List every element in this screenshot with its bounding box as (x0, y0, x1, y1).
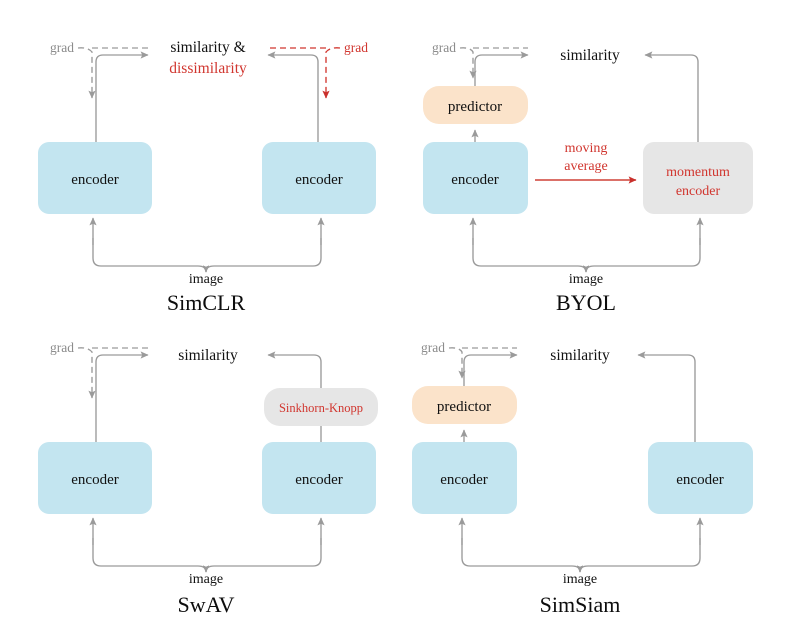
panel-simclr: encoder encoder grad similarity & dissim… (38, 39, 376, 315)
simsiam-image-brace-right (580, 538, 700, 572)
swav-sinkhorn-knopp-label: Sinkhorn-Knopp (279, 401, 363, 415)
byol-moving-average-label-line2: average (564, 159, 608, 174)
swav-sinkhorn-to-similarity-arrow (268, 355, 321, 388)
simclr-right-forward-arrow (268, 55, 318, 142)
byol-grad-label: grad (432, 40, 456, 55)
simclr-right-encoder-label: encoder (295, 172, 342, 188)
simclr-image-brace-right (206, 238, 321, 272)
swav-left-forward-arrow (96, 355, 148, 442)
simsiam-image-label: image (563, 572, 597, 587)
byol-predictor-label: predictor (448, 99, 502, 115)
swav-left-encoder-label: encoder (71, 472, 118, 488)
simclr-right-grad-label: grad (344, 40, 368, 55)
simclr-left-grad-arrow-down (78, 48, 92, 98)
simsiam-right-encoder-label: encoder (676, 472, 723, 488)
byol-momentum-encoder-label-line2: encoder (676, 184, 721, 199)
byol-grad-arrow-down (460, 48, 473, 78)
diagram-canvas: encoder encoder grad similarity & dissim… (0, 0, 790, 636)
simclr-image-label: image (189, 272, 223, 287)
panel-byol: predictor encoder momentum encoder grad … (423, 40, 753, 315)
simclr-objective-line2: dissimilarity (169, 60, 247, 77)
byol-predictor-to-similarity-arrow (475, 55, 528, 86)
panel-swav: encoder encoder Sinkhorn-Knopp grad simi… (38, 340, 378, 617)
byol-moving-average-label-line1: moving (565, 141, 608, 156)
simsiam-left-encoder-label: encoder (440, 472, 487, 488)
simclr-left-encoder-label: encoder (71, 172, 118, 188)
simclr-objective-line1: similarity & (170, 39, 245, 56)
swav-objective-label: similarity (178, 347, 238, 364)
swav-image-brace-right (206, 538, 321, 572)
simclr-left-grad-label: grad (50, 40, 74, 55)
byol-momentum-to-similarity-arrow (645, 55, 698, 142)
simsiam-predictor-to-similarity-arrow (464, 355, 517, 386)
byol-left-encoder-label: encoder (451, 172, 498, 188)
byol-image-label: image (569, 272, 603, 287)
simsiam-grad-label: grad (421, 340, 445, 355)
simsiam-image-brace-left (462, 538, 580, 572)
swav-grad-label: grad (50, 340, 74, 355)
panel-simsiam: predictor encoder encoder grad similarit… (412, 340, 753, 617)
byol-momentum-encoder-label-line1: momentum (666, 165, 730, 180)
swav-title: SwAV (177, 592, 234, 617)
simsiam-objective-label: similarity (550, 347, 610, 364)
byol-image-brace-right (586, 238, 700, 272)
simsiam-title: SimSiam (540, 592, 621, 617)
simsiam-grad-arrow-down (449, 348, 462, 378)
simsiam-predictor-label: predictor (437, 399, 491, 415)
simclr-right-grad-arrow-down (326, 48, 340, 98)
self-supervised-methods-figure: encoder encoder grad similarity & dissim… (0, 0, 790, 636)
simclr-title: SimCLR (167, 290, 246, 315)
swav-image-label: image (189, 572, 223, 587)
swav-image-brace-left (93, 538, 206, 572)
swav-grad-arrow-down (78, 348, 92, 398)
byol-title: BYOL (556, 290, 616, 315)
swav-right-encoder-label: encoder (295, 472, 342, 488)
simclr-left-forward-arrow (96, 55, 148, 142)
byol-objective-label: similarity (560, 47, 620, 64)
simsiam-right-encoder-to-similarity-arrow (638, 355, 695, 442)
simclr-image-brace-left (93, 238, 206, 272)
byol-image-brace-left (473, 238, 586, 272)
